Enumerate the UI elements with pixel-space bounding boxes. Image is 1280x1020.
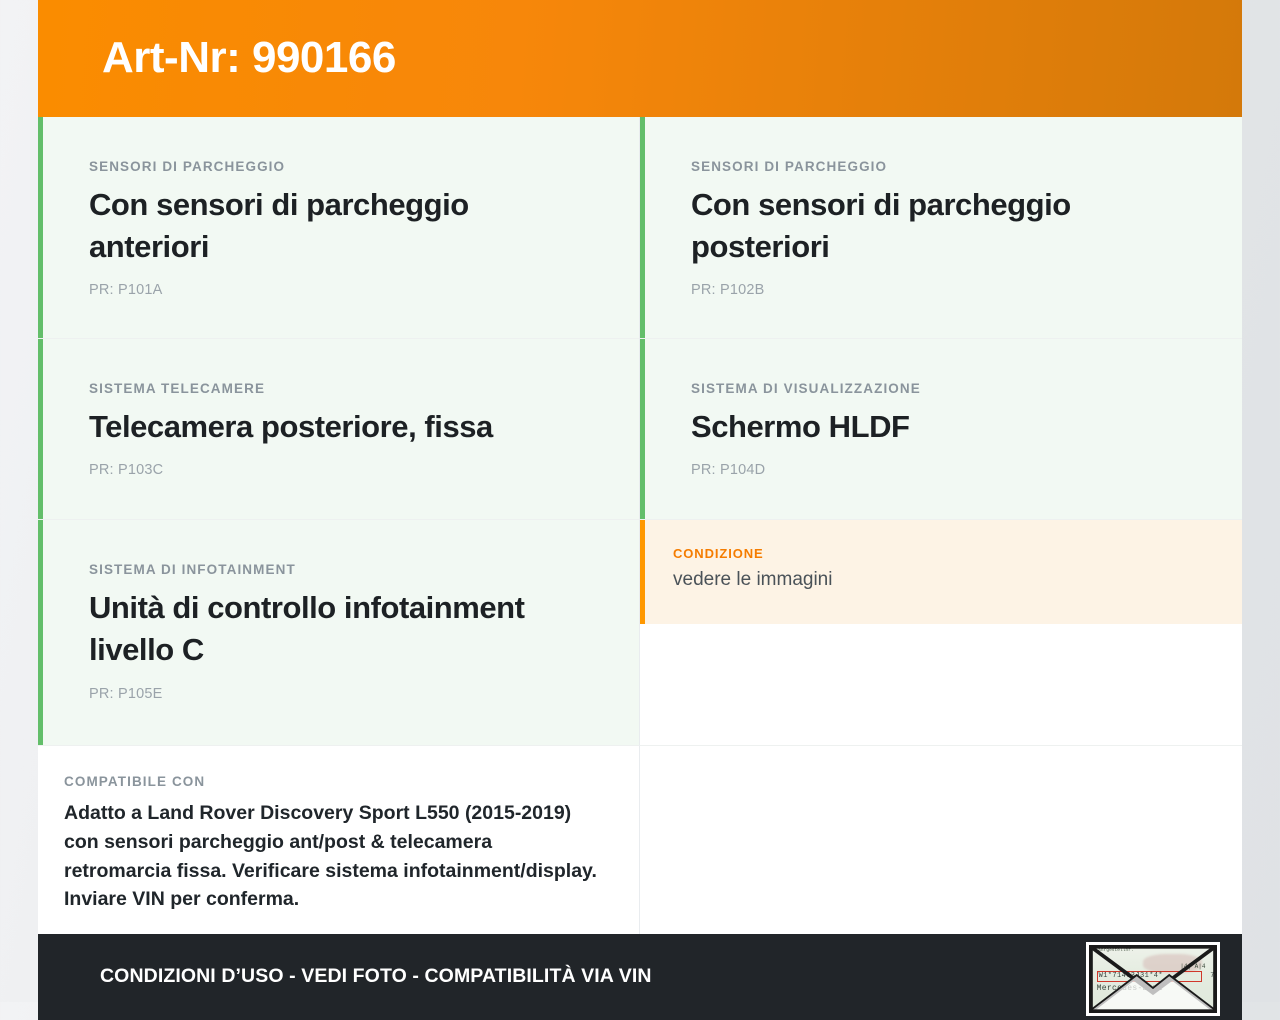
spec-label: SISTEMA DI INFOTAINMENT [89, 562, 595, 577]
spec-title: Con sensori di parcheggio anteriori [89, 184, 595, 268]
spec-title: Unità di controllo infotainment livello … [89, 587, 595, 671]
envelope-icon [1089, 945, 1217, 1013]
compatibility-text: Adatto a Land Rover Discovery Sport L550… [64, 799, 599, 914]
spec-title: Con sensori di parcheggio posteriori [691, 184, 1198, 268]
page-title: Art-Nr: 990166 [102, 34, 396, 82]
spec-card-parking-front: SENSORI DI PARCHEGGIO Con sensori di par… [38, 117, 639, 338]
spec-pr-code: PR: P104D [691, 462, 1198, 478]
compatibility-label: COMPATIBILE CON [64, 774, 599, 789]
spec-pr-code: PR: P101A [89, 282, 595, 298]
condition-value: vedere le immagini [673, 567, 1198, 594]
spec-label: SISTEMA DI VISUALIZZAZIONE [691, 381, 1198, 396]
spec-cell: SISTEMA TELECAMERE Telecamera posteriore… [38, 339, 640, 520]
compatibility-section: COMPATIBILE CON Adatto a Land Rover Disc… [38, 746, 1242, 934]
spec-cell: SISTEMA DI VISUALIZZAZIONE Schermo HLDF … [640, 339, 1242, 520]
footer-bar: CONDIZIONI D’USO - VEDI FOTO - COMPATIBI… [38, 934, 1242, 1020]
compatibility-block: COMPATIBILE CON Adatto a Land Rover Disc… [38, 746, 640, 934]
envelope-document-thumbnail[interactable]: Fahrgestellnr. |4| A|4 W1*71463J31*4* 7 … [1086, 942, 1220, 1016]
compatibility-spacer [640, 746, 1242, 934]
condition-label: CONDIZIONE [673, 546, 1198, 561]
spec-grid: SENSORI DI PARCHEGGIO Con sensori di par… [38, 117, 1242, 746]
spec-label: SENSORI DI PARCHEGGIO [89, 159, 595, 174]
spec-card-display-system: SISTEMA DI VISUALIZZAZIONE Schermo HLDF … [640, 339, 1242, 519]
spec-cell: SISTEMA DI INFOTAINMENT Unità di control… [38, 520, 640, 746]
spec-cell: SENSORI DI PARCHEGGIO Con sensori di par… [38, 117, 640, 339]
spec-cell: CONDIZIONE vedere le immagini [640, 520, 1242, 746]
spec-card-infotainment: SISTEMA DI INFOTAINMENT Unità di control… [38, 520, 639, 745]
spec-card-camera-system: SISTEMA TELECAMERE Telecamera posteriore… [38, 339, 639, 519]
condition-card: CONDIZIONE vedere le immagini [640, 520, 1242, 624]
spec-pr-code: PR: P105E [89, 686, 595, 702]
spec-title: Schermo HLDF [691, 406, 1198, 448]
spec-card-parking-rear: SENSORI DI PARCHEGGIO Con sensori di par… [640, 117, 1242, 338]
thumbnail-inner: Fahrgestellnr. |4| A|4 W1*71463J31*4* 7 … [1089, 945, 1217, 1013]
spec-label: SISTEMA TELECAMERE [89, 381, 595, 396]
footer-text: CONDIZIONI D’USO - VEDI FOTO - COMPATIBI… [100, 965, 652, 988]
spec-label: SENSORI DI PARCHEGGIO [691, 159, 1198, 174]
spec-cell: SENSORI DI PARCHEGGIO Con sensori di par… [640, 117, 1242, 339]
spec-pr-code: PR: P103C [89, 462, 595, 478]
spec-title: Telecamera posteriore, fissa [89, 406, 595, 448]
spec-pr-code: PR: P102B [691, 282, 1198, 298]
header-banner: Art-Nr: 990166 [38, 0, 1242, 117]
listing-page: Art-Nr: 990166 SENSORI DI PARCHEGGIO Con… [38, 0, 1242, 1002]
